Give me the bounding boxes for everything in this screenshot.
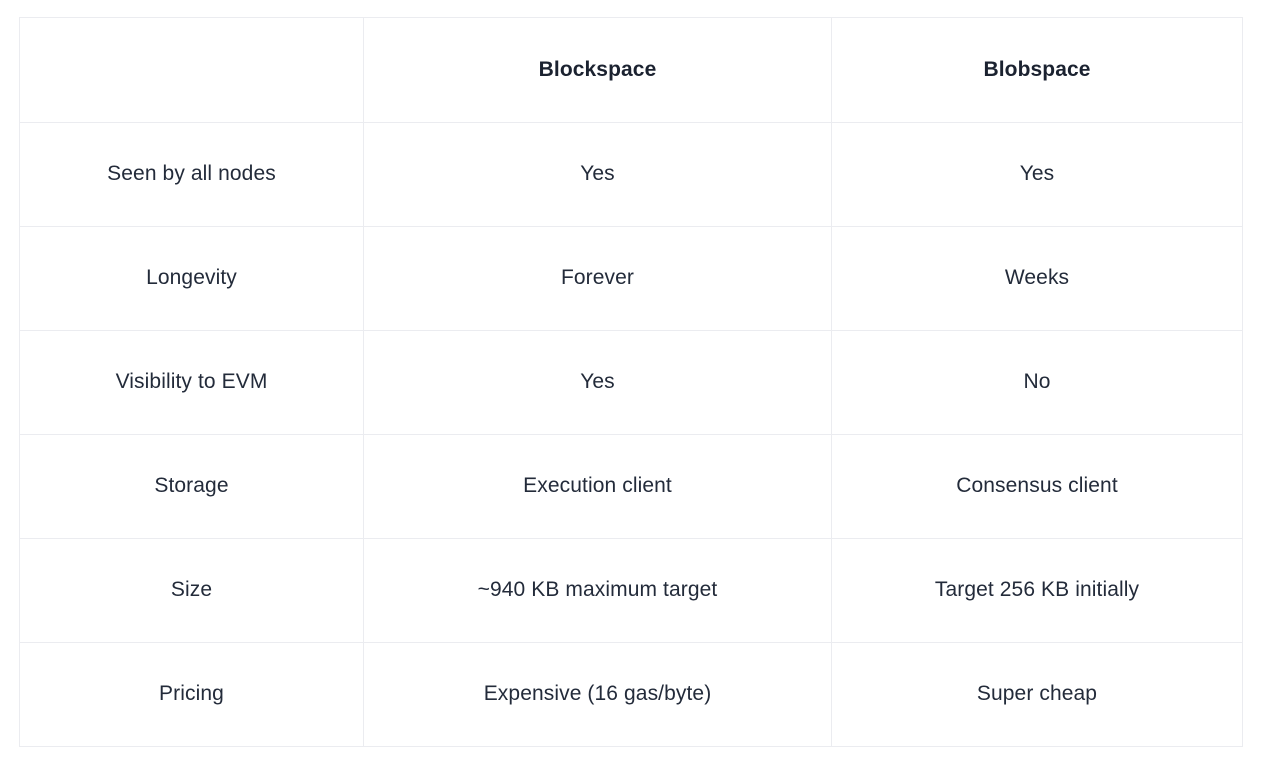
cell-blockspace-longevity: Forever	[364, 227, 832, 331]
blockspace-blobspace-comparison-table: Blockspace Blobspace Seen by all nodes Y…	[19, 17, 1243, 747]
row-label-size: Size	[20, 539, 364, 643]
cell-blobspace-storage: Consensus client	[832, 435, 1243, 539]
table-row: Size ~940 KB maximum target Target 256 K…	[20, 539, 1243, 643]
cell-blockspace-seen-by-all-nodes: Yes	[364, 123, 832, 227]
cell-blockspace-size: ~940 KB maximum target	[364, 539, 832, 643]
row-label-pricing: Pricing	[20, 643, 364, 747]
cell-blobspace-pricing: Super cheap	[832, 643, 1243, 747]
table-body: Seen by all nodes Yes Yes Longevity Fore…	[20, 123, 1243, 747]
page-root: Blockspace Blobspace Seen by all nodes Y…	[0, 0, 1261, 773]
cell-blockspace-storage: Execution client	[364, 435, 832, 539]
row-label-storage: Storage	[20, 435, 364, 539]
header-cell-corner	[20, 18, 364, 123]
table-header: Blockspace Blobspace	[20, 18, 1243, 123]
table-row: Pricing Expensive (16 gas/byte) Super ch…	[20, 643, 1243, 747]
row-label-visibility-to-evm: Visibility to EVM	[20, 331, 364, 435]
header-cell-blockspace: Blockspace	[364, 18, 832, 123]
table-row: Visibility to EVM Yes No	[20, 331, 1243, 435]
header-cell-blobspace: Blobspace	[832, 18, 1243, 123]
table-row: Storage Execution client Consensus clien…	[20, 435, 1243, 539]
cell-blobspace-seen-by-all-nodes: Yes	[832, 123, 1243, 227]
row-label-longevity: Longevity	[20, 227, 364, 331]
cell-blobspace-longevity: Weeks	[832, 227, 1243, 331]
cell-blockspace-pricing: Expensive (16 gas/byte)	[364, 643, 832, 747]
cell-blobspace-size: Target 256 KB initially	[832, 539, 1243, 643]
table-row: Seen by all nodes Yes Yes	[20, 123, 1243, 227]
header-row: Blockspace Blobspace	[20, 18, 1243, 123]
cell-blockspace-visibility-to-evm: Yes	[364, 331, 832, 435]
row-label-seen-by-all-nodes: Seen by all nodes	[20, 123, 364, 227]
cell-blobspace-visibility-to-evm: No	[832, 331, 1243, 435]
table-row: Longevity Forever Weeks	[20, 227, 1243, 331]
